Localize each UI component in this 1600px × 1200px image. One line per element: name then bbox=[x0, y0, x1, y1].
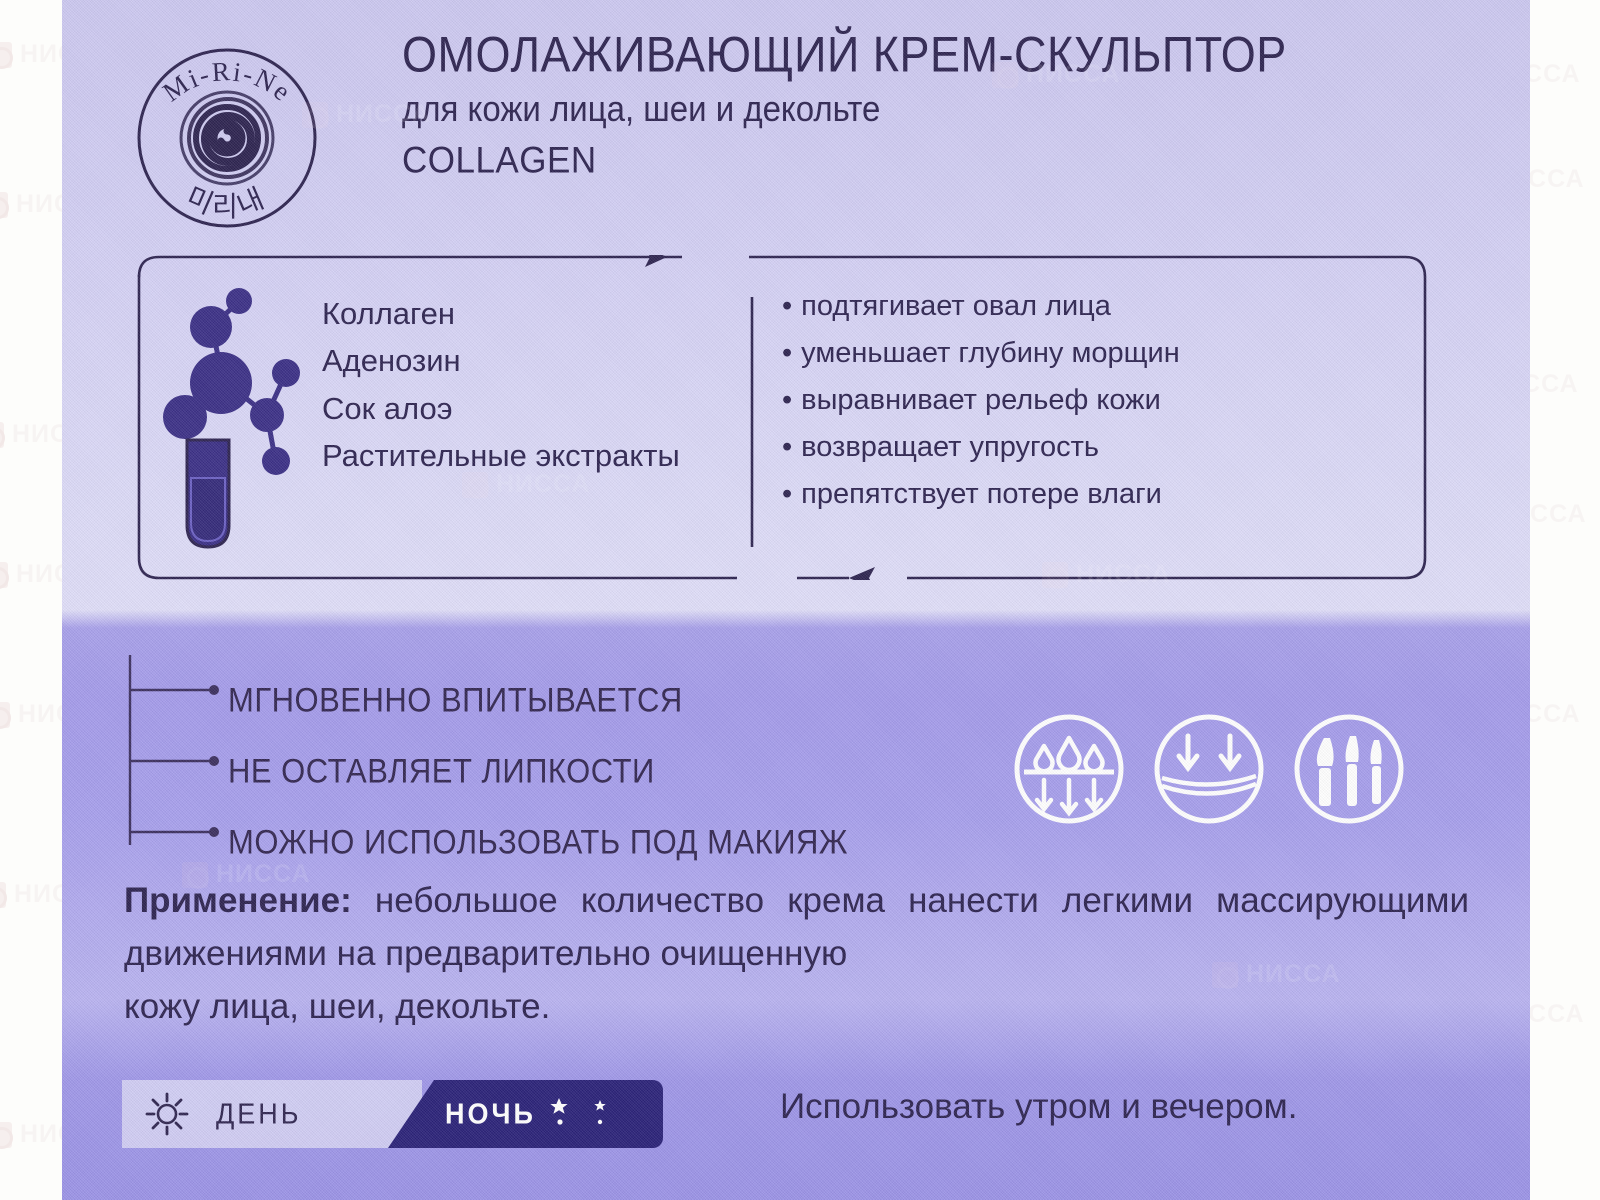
feature-item: НЕ ОСТАВЛЯЕТ ЛИПКОСТИ bbox=[228, 751, 655, 791]
bullet-icon: • bbox=[782, 431, 792, 463]
ingredient-item: Растительные экстракты bbox=[322, 432, 680, 479]
arrow-left-icon bbox=[849, 567, 875, 580]
features-list: МГНОВЕННО ВПИТЫВАЕТСЯ НЕ ОСТАВЛЯЕТ ЛИПКО… bbox=[124, 655, 1024, 860]
bullet-icon: • bbox=[782, 384, 792, 416]
page-title-english: COLLAGEN bbox=[402, 140, 1287, 182]
property-icon-row bbox=[1010, 710, 1408, 828]
ingredient-item: Коллаген bbox=[322, 290, 680, 337]
ingredient-item: Аденозин bbox=[322, 337, 680, 384]
usage-frequency-note: Использовать утром и вечером. bbox=[780, 1087, 1297, 1127]
benefit-label: выравнивает рельеф кожи bbox=[801, 384, 1161, 416]
page-subtitle: для кожи лица, шеи и декольте bbox=[402, 90, 1287, 128]
makeup-brushes-icon bbox=[1290, 710, 1408, 828]
page-title: ОМОЛАЖИВАЮЩИЙ КРЕМ-СКУЛЬПТОР bbox=[402, 28, 1287, 81]
usage-instructions: Применение: небольшое количество крема н… bbox=[124, 874, 1469, 1034]
benefit-label: уменьшает глубину морщин bbox=[801, 337, 1180, 369]
watermark-logo-icon bbox=[0, 562, 8, 588]
watermark-logo-icon bbox=[0, 422, 4, 448]
watermark-logo-icon bbox=[0, 702, 10, 728]
benefit-item: •выравнивает рельеф кожи bbox=[782, 377, 1180, 424]
feature-item: МГНОВЕННО ВПИТЫВАЕТСЯ bbox=[228, 680, 683, 720]
watermark-logo-icon bbox=[0, 42, 12, 68]
label-artwork: НИССА НИССА НИССА НИССА НИССА НИССА bbox=[62, 0, 1530, 1200]
moon-stars-icon bbox=[550, 1089, 606, 1139]
molecule-test-tube-icon bbox=[157, 275, 317, 555]
info-box: Коллаген Аденозин Сок алоэ Растительные … bbox=[137, 255, 1427, 580]
absorption-droplets-icon bbox=[1010, 710, 1128, 828]
benefit-item: •препятствует потере влаги bbox=[782, 471, 1180, 518]
ingredients-list: Коллаген Аденозин Сок алоэ Растительные … bbox=[322, 290, 680, 480]
day-segment: ДЕНЬ bbox=[122, 1080, 422, 1148]
svg-text:미리내: 미리내 bbox=[182, 180, 273, 223]
night-label: НОЧЬ bbox=[445, 1098, 536, 1131]
benefit-label: возвращает упругость bbox=[801, 431, 1099, 463]
mirine-spiral-logo-icon: Mi-Ri-Ne 미리내 bbox=[122, 38, 332, 238]
usage-last-line: кожу лица, шеи, декольте. bbox=[124, 980, 1469, 1033]
night-segment: НОЧЬ bbox=[388, 1080, 663, 1148]
bullet-icon: • bbox=[782, 337, 792, 369]
benefit-item: •подтягивает овал лица bbox=[782, 283, 1180, 330]
watermark-logo-icon bbox=[0, 192, 8, 218]
benefit-label: подтягивает овал лица bbox=[801, 290, 1111, 322]
watermark-logo-icon bbox=[0, 1122, 12, 1148]
benefit-item: •возвращает упругость bbox=[782, 424, 1180, 471]
usage-heading: Применение: bbox=[124, 881, 352, 920]
day-night-bar: ДЕНЬ НОЧЬ bbox=[122, 1080, 663, 1148]
feature-item: МОЖНО ИСПОЛЬЗОВАТЬ ПОД МАКИЯЖ bbox=[228, 822, 848, 862]
benefit-item: •уменьшает глубину морщин bbox=[782, 330, 1180, 377]
product-label-page: НИССА НИССА НИССА НИССА НИССА НИССА НИСС… bbox=[0, 0, 1600, 1200]
watermark-logo-icon bbox=[0, 882, 6, 908]
header-block: ОМОЛАЖИВАЮЩИЙ КРЕМ-СКУЛЬПТОР для кожи ли… bbox=[402, 28, 1287, 180]
smoothing-skin-arrows-icon bbox=[1150, 710, 1268, 828]
bullet-icon: • bbox=[782, 290, 792, 322]
bullet-icon: • bbox=[782, 478, 792, 510]
ingredient-item: Сок алоэ bbox=[322, 385, 680, 432]
sun-icon bbox=[144, 1091, 190, 1137]
day-label: ДЕНЬ bbox=[216, 1098, 302, 1131]
brand-logo: Mi-Ri-Ne 미리내 bbox=[122, 38, 332, 238]
benefits-list: •подтягивает овал лица •уменьшает глубин… bbox=[782, 283, 1180, 518]
benefit-label: препятствует потере влаги bbox=[801, 478, 1162, 510]
